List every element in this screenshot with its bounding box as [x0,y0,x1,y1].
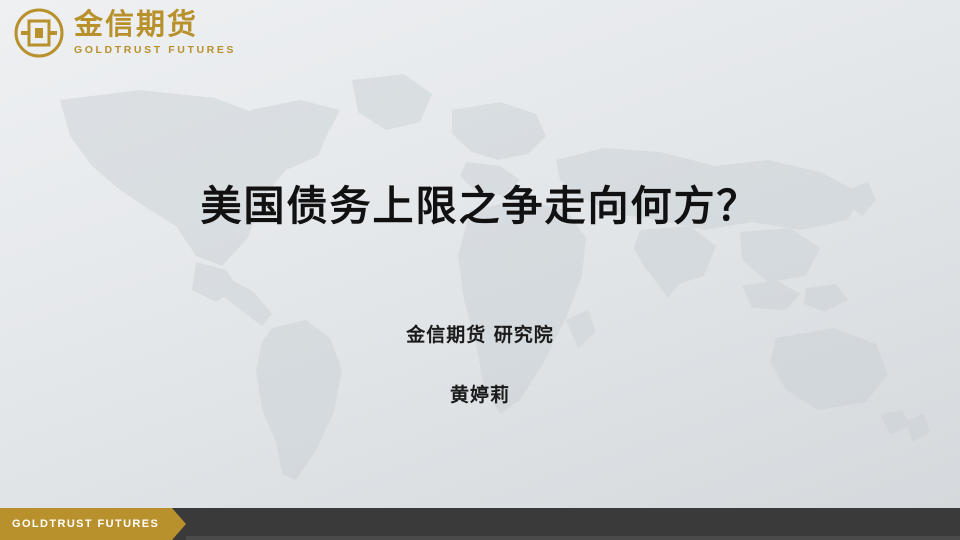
logo-wordmark: 金信期货 GOLDTRUST FUTURES [74,10,236,56]
slide-subtitle-author: 黄婷莉 [0,380,960,407]
goldtrust-seal-icon [14,8,64,58]
world-map-background [0,70,960,510]
footer-label: GOLDTRUST FUTURES [0,518,159,530]
footer-accent-strip [186,536,960,540]
slide-title: 美国债务上限之争走向何方？ [0,172,960,232]
logo-name-cn: 金信期货 [74,10,236,39]
presentation-slide: 金信期货 GOLDTRUST FUTURES 美国债务上限之争走向何方？ 金信期… [0,0,960,540]
slide-subtitle-organization: 金信期货 研究院 [0,320,960,347]
footer-brand-tab: GOLDTRUST FUTURES [0,508,172,540]
company-logo: 金信期货 GOLDTRUST FUTURES [14,8,236,58]
logo-name-en: GOLDTRUST FUTURES [74,45,236,56]
